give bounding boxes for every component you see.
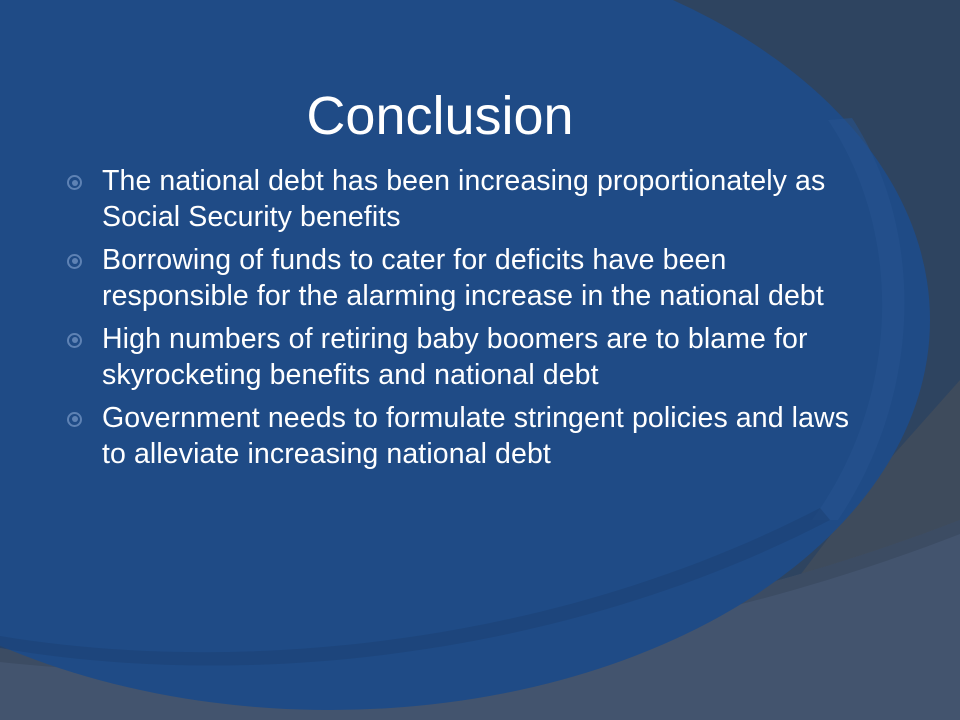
presentation-slide: Conclusion The national debt has been in… — [0, 0, 960, 720]
bullet-text: The national debt has been increasing pr… — [102, 163, 872, 236]
slide-content: Conclusion The national debt has been in… — [0, 0, 960, 720]
ring-dot-bullet-icon — [67, 412, 82, 427]
bullet-text: Borrowing of funds to cater for deficits… — [102, 242, 872, 315]
bullet-list: The national debt has been increasing pr… — [62, 163, 872, 479]
list-item: The national debt has been increasing pr… — [62, 163, 872, 236]
list-item: Government needs to formulate stringent … — [62, 400, 872, 473]
list-item: Borrowing of funds to cater for deficits… — [62, 242, 872, 315]
bullet-text: High numbers of retiring baby boomers ar… — [102, 321, 872, 394]
bullet-text: Government needs to formulate stringent … — [102, 400, 872, 473]
list-item: High numbers of retiring baby boomers ar… — [62, 321, 872, 394]
ring-dot-bullet-icon — [67, 175, 82, 190]
page-title: Conclusion — [0, 88, 880, 145]
ring-dot-bullet-icon — [67, 254, 82, 269]
ring-dot-bullet-icon — [67, 333, 82, 348]
